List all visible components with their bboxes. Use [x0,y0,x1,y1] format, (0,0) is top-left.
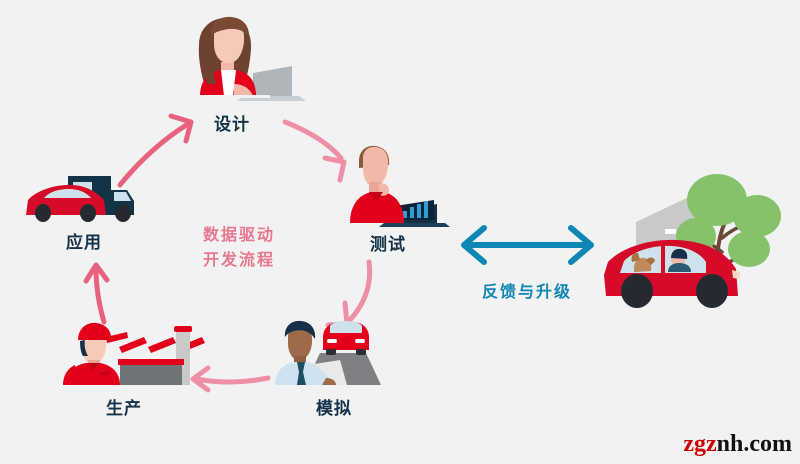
node-label-simulation: 模拟 [316,394,352,419]
center-caption-line-1: 数据驱动 [203,224,275,249]
watermark: zgznh.com [683,431,792,458]
curved-arrow-down-right-icon [285,122,344,180]
curved-arrow-up-right-icon [120,116,191,185]
node-label-application: 应用 [66,228,102,253]
simulation-car-icon [275,321,381,385]
arrow-up-icon [86,265,107,322]
diagram-canvas: 设计 测试 模拟 生产 应用 数据驱动 开发流程 反馈与升级 zgznh.com [0,0,800,464]
node-label-production: 生产 [106,394,142,419]
car-and-truck-icon [26,176,134,222]
center-caption-line-2: 开发流程 [203,249,275,274]
double-headed-arrow-icon [464,228,591,262]
cycle-center-caption: 数据驱动 开发流程 [203,224,275,274]
watermark-red-part: zgz [683,431,716,457]
tester-with-chart-icon [350,146,450,227]
curved-arrow-down-icon [328,262,370,325]
node-label-design: 设计 [214,110,250,135]
node-label-test: 测试 [370,230,406,255]
car-with-people-building-trees-icon [604,174,781,308]
factory-worker-icon [63,323,205,385]
feedback-label: 反馈与升级 [482,278,572,302]
designer-at-laptop-icon [186,17,306,101]
watermark-black-part: nh.com [717,431,792,457]
arrow-left-icon [193,368,268,390]
